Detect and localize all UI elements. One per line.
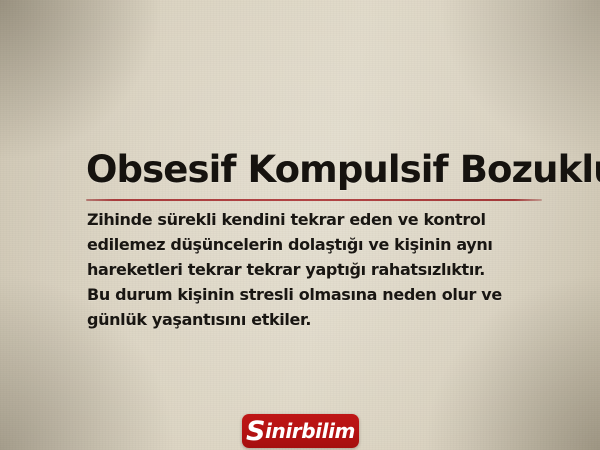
panel-title: Obsesif Kompulsif Bozukluk xyxy=(86,148,556,192)
exhibit-wall-panel: Obsesif Kompulsif Bozukluk Zihinde sürek… xyxy=(0,0,600,450)
description-line: hareketleri tekrar tekrar yaptığı rahats… xyxy=(87,257,517,282)
sinirbilim-logo: Sinirbilim xyxy=(242,414,359,448)
description-line: edilemez düşüncelerin dolaştığı ve kişin… xyxy=(87,232,517,257)
description-line: günlük yaşantısını etkiler. xyxy=(87,307,517,332)
title-divider-rule xyxy=(86,199,542,201)
logo-wordmark-rest: inirbilim xyxy=(265,419,355,443)
description-line: Zihinde sürekli kendini tekrar eden ve k… xyxy=(87,207,517,232)
panel-description: Zihinde sürekli kendini tekrar eden ve k… xyxy=(87,207,517,332)
heading-block: Obsesif Kompulsif Bozukluk xyxy=(86,148,556,201)
logo-wordmark: Sinirbilim xyxy=(246,421,355,442)
description-line: Bu durum kişinin stresli olmasına neden … xyxy=(87,282,517,307)
logo-initial: S xyxy=(246,416,265,447)
